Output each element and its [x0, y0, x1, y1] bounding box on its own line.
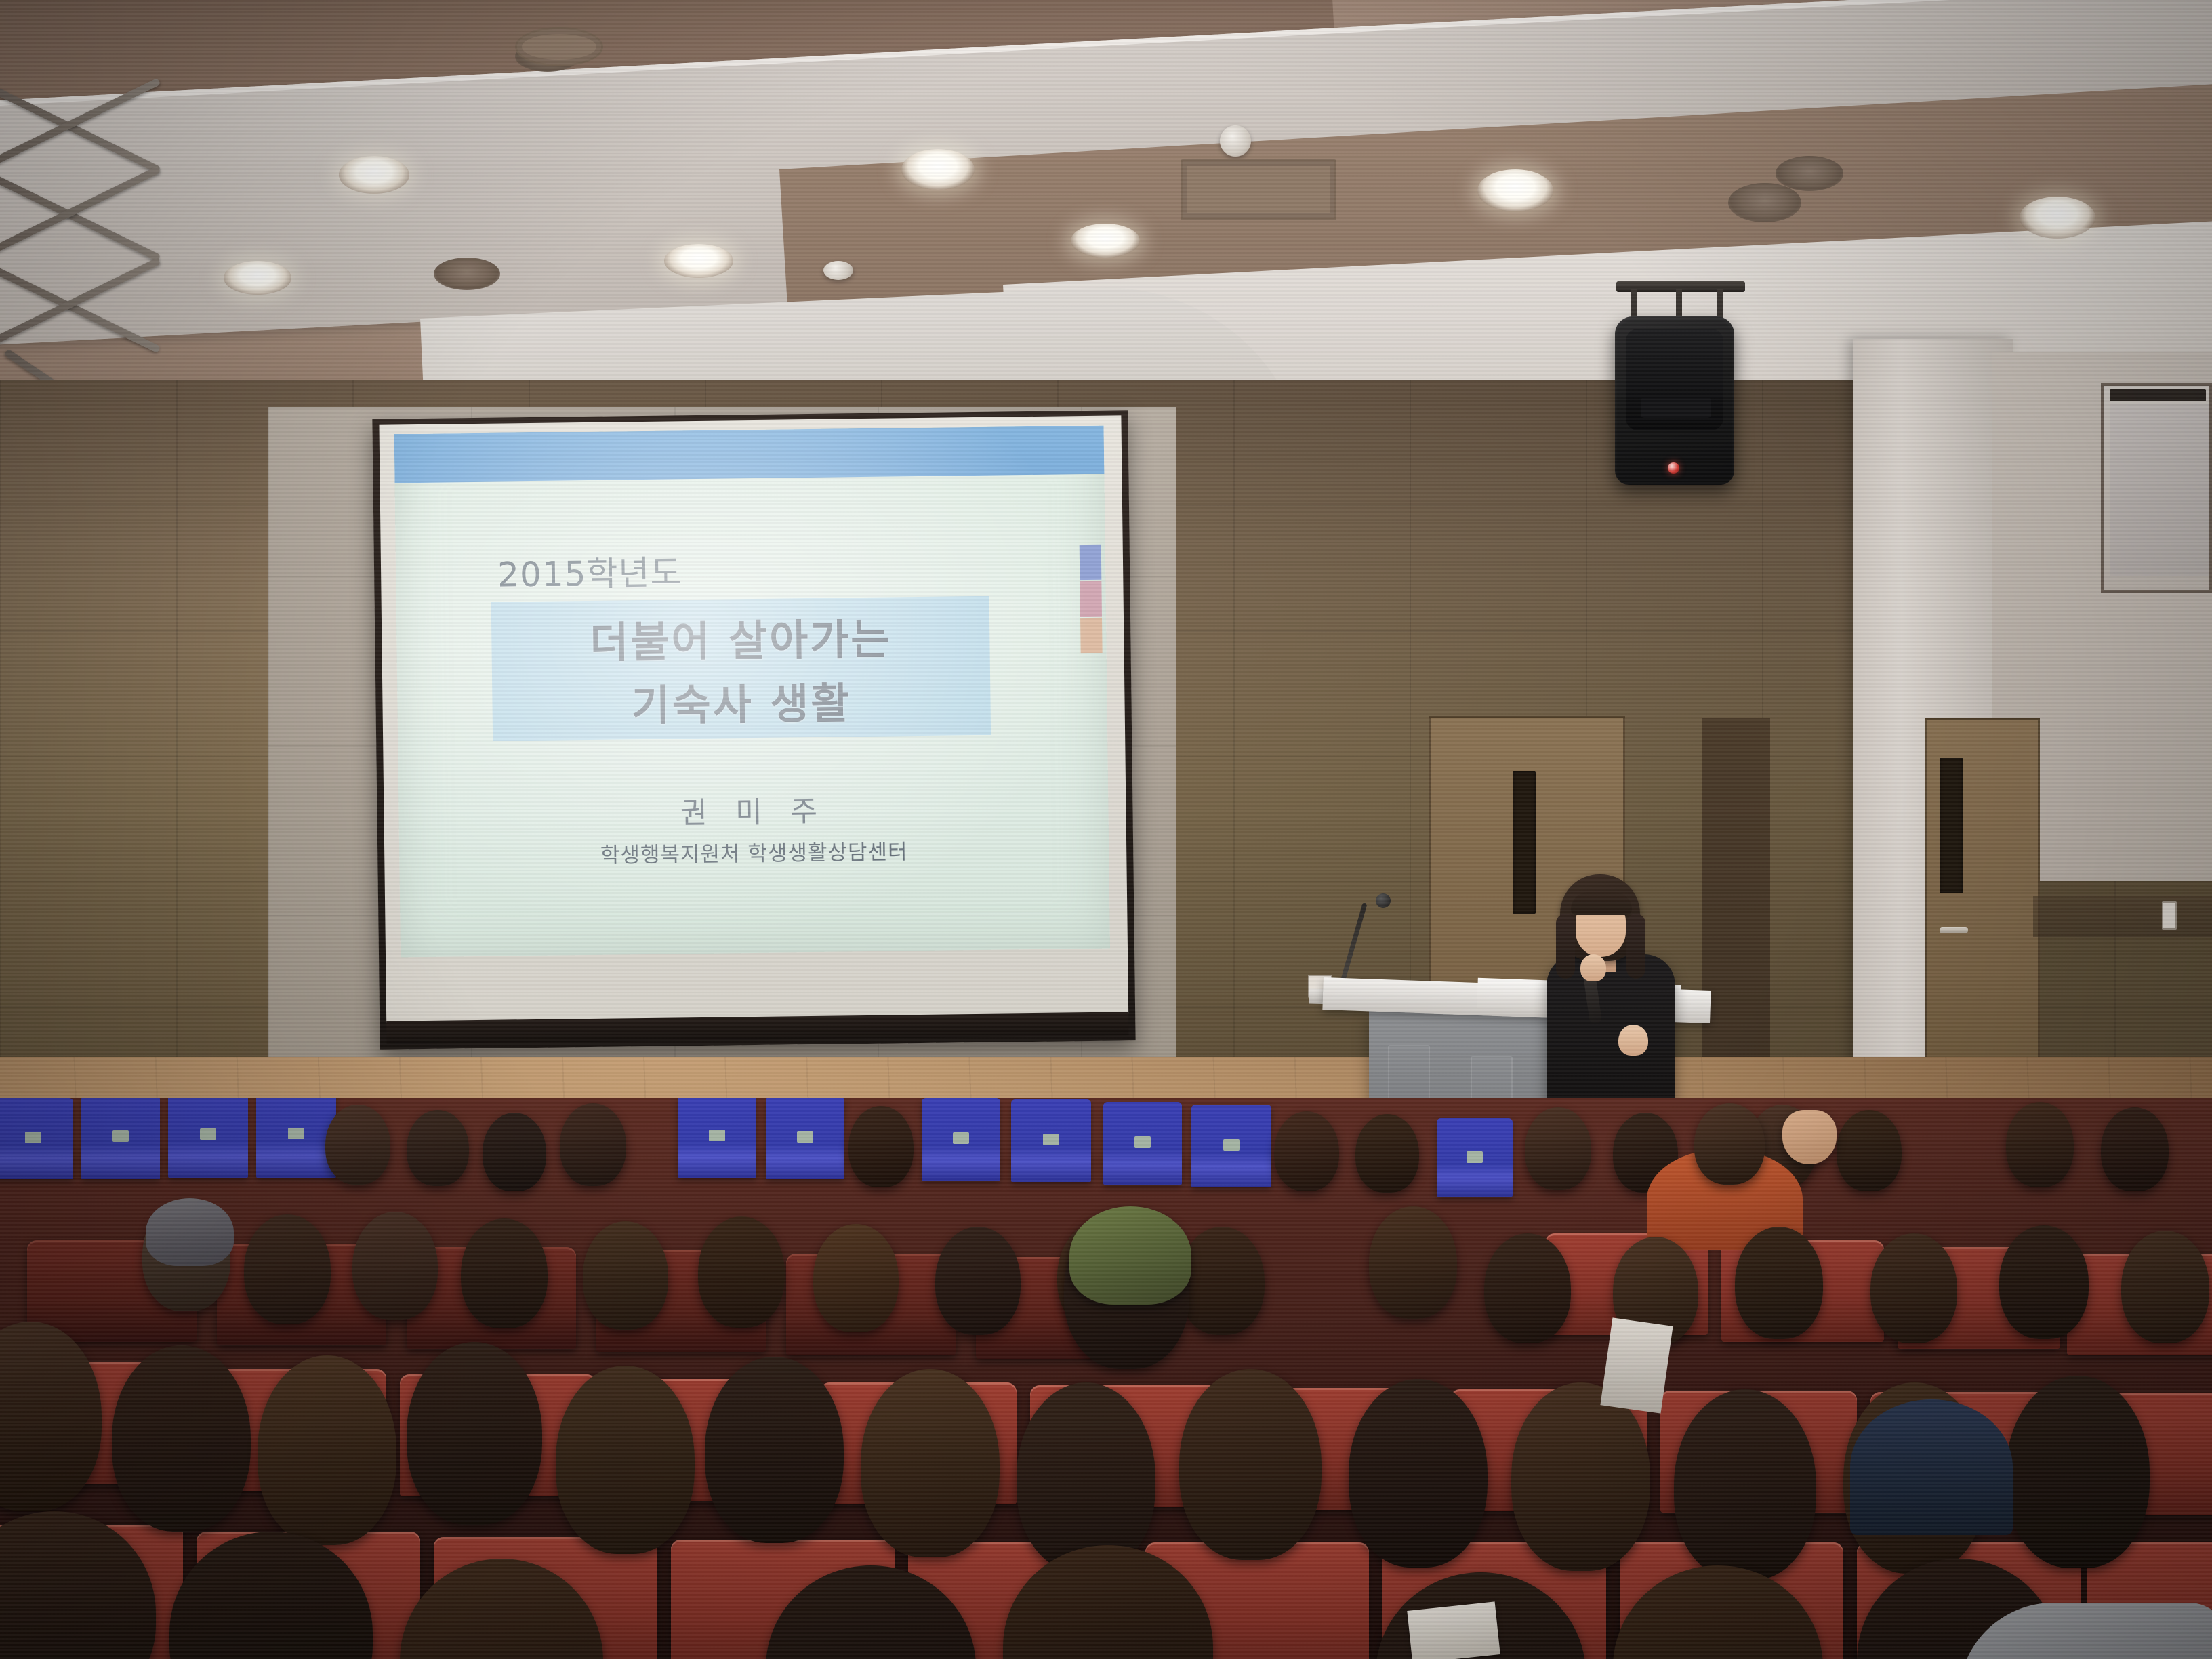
audience-head [935, 1227, 1021, 1335]
audience-head [1999, 1225, 2089, 1339]
projection-screen: 2015학년도 더불어 살아가는 기숙사 생활 권 미 주 학생행복지원처 학생… [372, 410, 1135, 1050]
front-row-blue-chair[interactable] [1011, 1099, 1091, 1182]
front-row-blue-chair[interactable] [168, 1098, 248, 1178]
speaker-power-led-icon [1668, 462, 1679, 474]
audience-head [583, 1221, 668, 1330]
gooseneck-microphone-head-icon [1376, 893, 1391, 908]
ceiling-downlight-icon [1071, 224, 1140, 258]
wall-switch-plate-icon [2162, 901, 2177, 930]
screen-surface: 2015학년도 더불어 살아가는 기숙사 생활 권 미 주 학생행복지원처 학생… [379, 415, 1128, 1022]
audience-head [556, 1366, 695, 1554]
audience-head [813, 1224, 899, 1332]
slide-title-box: 더불어 살아가는 기숙사 생활 [491, 596, 991, 741]
audience-grey-beanie [146, 1198, 234, 1266]
presenter-hair-left [1556, 914, 1575, 979]
audience-head [1349, 1379, 1488, 1568]
slide-title-line-2: 기숙사 생활 [631, 669, 852, 733]
presenter-hand-gesturing [1618, 1025, 1648, 1056]
presenter-hand-holding-mic [1580, 954, 1606, 981]
wall-dado-band [2033, 896, 2212, 937]
audience-head [1369, 1206, 1457, 1319]
slide-presenter-name: 권 미 주 [398, 785, 1109, 836]
slide-year-label: 2015학년도 [497, 546, 682, 596]
slide-top-accent-bar [394, 426, 1105, 483]
window-glass [2110, 404, 2209, 576]
audience-head [407, 1342, 542, 1525]
audience-head [244, 1214, 331, 1324]
smoke-detector-icon [1220, 125, 1251, 157]
hvac-supply-vent-icon [1181, 159, 1336, 220]
audience-head [848, 1106, 914, 1187]
audience-head [1837, 1110, 1902, 1191]
slide-swatch-blue [1080, 545, 1102, 580]
front-row-blue-chair[interactable] [0, 1098, 73, 1179]
audience-head [483, 1113, 546, 1191]
front-row-blue-chair[interactable] [678, 1098, 756, 1178]
ceiling-downlight-off-icon [1728, 183, 1801, 222]
wall-mounted-pa-speaker [1603, 281, 1759, 498]
hvac-supply-vent-icon [515, 27, 603, 66]
audience-head [1674, 1389, 1816, 1580]
audience-head [1694, 1103, 1765, 1185]
audience-head [1870, 1233, 1957, 1343]
ceiling-downlight-icon [901, 149, 975, 190]
audience-head [861, 1369, 1000, 1557]
audience-head [461, 1218, 548, 1328]
presentation-slide: 2015학년도 더불어 살아가는 기숙사 생활 권 미 주 학생행복지원처 학생… [394, 426, 1110, 958]
audience-head [2006, 1102, 2074, 1187]
audience-area [0, 1098, 2212, 1659]
front-row-blue-chair[interactable] [81, 1098, 160, 1179]
slide-title-line-1: 더불어 살아가는 [590, 605, 892, 669]
handout-paper[interactable] [1407, 1601, 1500, 1659]
audience-head [1179, 1227, 1265, 1335]
audience-torso-navy [1850, 1399, 2013, 1535]
presenter-bangs [1571, 892, 1632, 915]
audience-head [560, 1103, 626, 1186]
front-row-blue-chair[interactable] [922, 1098, 1000, 1181]
audience-head [2006, 1376, 2150, 1568]
window-header-bar [2110, 389, 2206, 401]
ceiling-downlight-icon [2020, 197, 2095, 239]
audience-raised-arm [1782, 1110, 1837, 1164]
speaker-horn-icon [1641, 398, 1711, 418]
front-row-blue-chair[interactable] [1191, 1105, 1271, 1187]
audience-head [2121, 1231, 2209, 1343]
audience-head [352, 1212, 438, 1320]
audience-head [705, 1357, 844, 1543]
door-vision-slit-icon [1513, 771, 1536, 914]
ceiling-downlight-icon [664, 244, 733, 278]
audience-head [325, 1105, 390, 1185]
audience-head [258, 1355, 396, 1545]
door-vision-slit-icon [1940, 758, 1963, 893]
presenter-hair-right [1626, 914, 1645, 979]
front-row-blue-chair[interactable] [256, 1098, 336, 1178]
ceiling-downlight-icon [1477, 169, 1553, 211]
slide-presenter-affiliation: 학생행복지원처 학생생활상담센터 [399, 832, 1109, 872]
audience-head [112, 1345, 251, 1532]
audience-head [1355, 1114, 1419, 1193]
audience-head [1735, 1227, 1823, 1339]
audience-olive-beanie [1069, 1206, 1191, 1305]
audience-head [407, 1110, 469, 1186]
front-row-blue-chair[interactable] [766, 1098, 844, 1179]
front-row-blue-chair[interactable] [1103, 1102, 1182, 1185]
audience-head [1525, 1107, 1591, 1190]
door-handle-icon[interactable] [1940, 927, 1968, 933]
smoke-detector-icon [823, 261, 853, 280]
audience-head [1484, 1233, 1571, 1343]
speaker-cabinet [1615, 316, 1734, 485]
auditorium-photo: 2015학년도 더불어 살아가는 기숙사 생활 권 미 주 학생행복지원처 학생… [0, 0, 2212, 1659]
ceiling-downlight-icon [339, 156, 409, 194]
handout-paper[interactable] [1600, 1317, 1673, 1413]
slide-swatch-peach [1080, 618, 1103, 653]
slide-swatch-pink [1080, 581, 1102, 617]
front-row-blue-chair[interactable] [1437, 1118, 1513, 1197]
control-room-window [2101, 383, 2212, 593]
audience-head [1511, 1382, 1650, 1571]
audience-head [1017, 1382, 1155, 1572]
audience-head [698, 1216, 785, 1328]
audience-head [2101, 1107, 2169, 1191]
audience-head [1274, 1111, 1339, 1191]
ceiling-downlight-off-icon [1776, 156, 1843, 191]
audience-head [1179, 1369, 1322, 1560]
ceiling-downlight-off-icon [434, 258, 500, 290]
